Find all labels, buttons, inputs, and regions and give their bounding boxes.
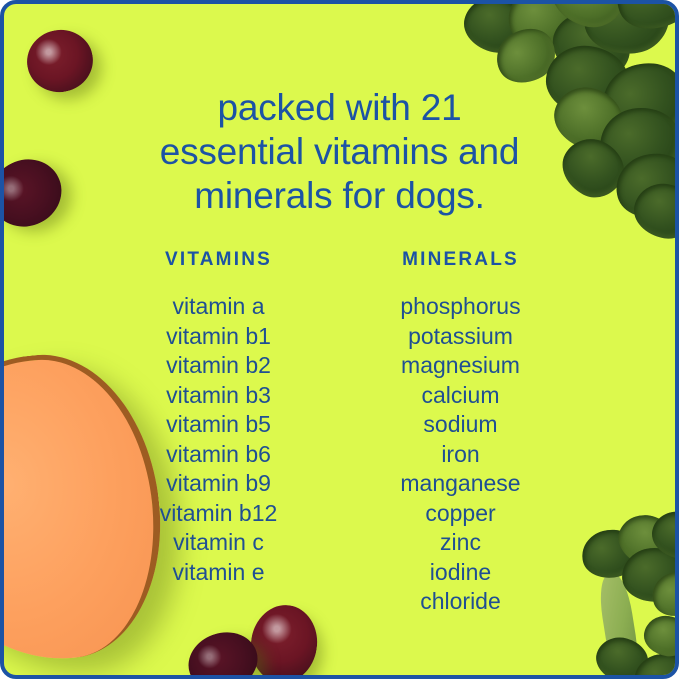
list-item: vitamin b5 <box>115 410 323 440</box>
list-item: manganese <box>357 469 565 499</box>
list-item: vitamin b1 <box>115 322 323 352</box>
headline-line-3: minerals for dogs. <box>4 174 675 218</box>
nutrient-columns: VITAMINS vitamin a vitamin b1 vitamin b2… <box>4 249 675 617</box>
minerals-list: phosphorus potassium magnesium calcium s… <box>357 292 565 617</box>
vitamins-heading: VITAMINS <box>115 249 323 271</box>
list-item: phosphorus <box>357 292 565 322</box>
list-item: vitamin b9 <box>115 469 323 499</box>
minerals-heading: MINERALS <box>357 249 565 271</box>
list-item: vitamin c <box>115 528 323 558</box>
list-item: iron <box>357 440 565 470</box>
headline-line-2: essential vitamins and <box>4 130 675 174</box>
vitamins-list: vitamin a vitamin b1 vitamin b2 vitamin … <box>115 292 323 587</box>
list-item: zinc <box>357 528 565 558</box>
vitamins-column: VITAMINS vitamin a vitamin b1 vitamin b2… <box>115 249 323 617</box>
grape-icon <box>181 624 265 679</box>
list-item: calcium <box>357 381 565 411</box>
list-item: vitamin b2 <box>115 351 323 381</box>
list-item: vitamin b3 <box>115 381 323 411</box>
list-item: copper <box>357 499 565 529</box>
list-item: vitamin e <box>115 558 323 588</box>
list-item: potassium <box>357 322 565 352</box>
list-item: vitamin b6 <box>115 440 323 470</box>
list-item: magnesium <box>357 351 565 381</box>
list-item: chloride <box>357 587 565 617</box>
product-infographic-card: packed with 21 essential vitamins and mi… <box>0 0 679 679</box>
minerals-column: MINERALS phosphorus potassium magnesium … <box>357 249 565 617</box>
page-title: packed with 21 essential vitamins and mi… <box>4 4 675 218</box>
list-item: vitamin b12 <box>115 499 323 529</box>
headline-line-1: packed with 21 <box>4 86 675 130</box>
list-item: sodium <box>357 410 565 440</box>
list-item: vitamin a <box>115 292 323 322</box>
list-item: iodine <box>357 558 565 588</box>
